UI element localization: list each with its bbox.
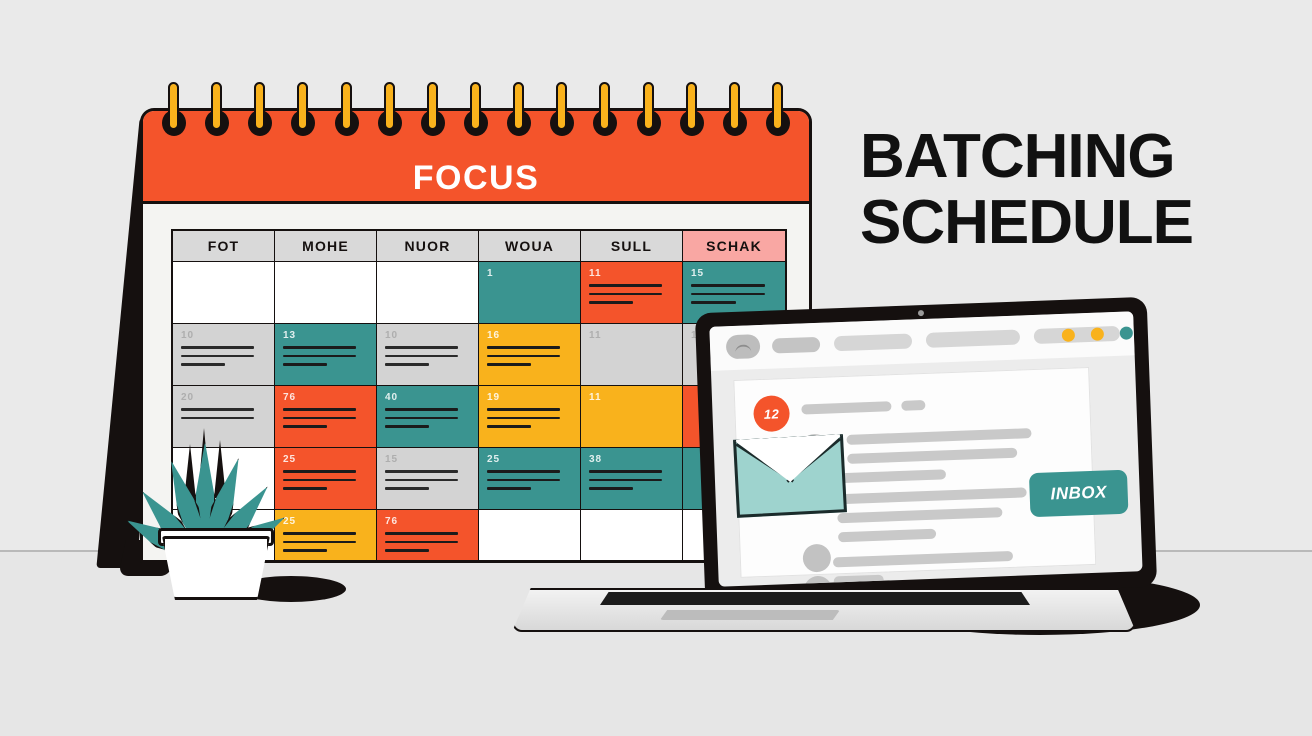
- spiral-ring: [680, 80, 704, 142]
- day-number: 11: [589, 268, 674, 279]
- spiral-wire: [772, 82, 783, 130]
- spiral-wire: [599, 82, 610, 130]
- toolbar-pill[interactable]: [772, 337, 821, 354]
- envelope-flap: [733, 434, 845, 485]
- calendar-day-header: FOT: [173, 231, 275, 262]
- calendar-day-cell[interactable]: 10: [173, 324, 275, 386]
- calendar-day-cell[interactable]: 38: [581, 448, 683, 510]
- day-number: 19: [487, 392, 572, 403]
- potted-succulent: [140, 428, 290, 600]
- spiral-ring: [291, 80, 315, 142]
- calendar-day-cell[interactable]: [377, 262, 479, 324]
- event-line: [181, 417, 254, 420]
- calendar-day-cell[interactable]: 1: [479, 262, 581, 324]
- avatar: [804, 576, 833, 587]
- spiral-ring: [248, 80, 272, 142]
- day-number: 38: [589, 454, 674, 465]
- spiral-wire: [643, 82, 654, 130]
- day-number: 20: [181, 392, 266, 403]
- event-lines: [181, 346, 266, 366]
- day-number: 25: [487, 454, 572, 465]
- event-line: [691, 284, 765, 287]
- event-line: [589, 487, 633, 490]
- calendar-day-cell[interactable]: [581, 510, 683, 563]
- event-line: [487, 417, 560, 420]
- event-line: [385, 470, 458, 473]
- event-line: [181, 408, 254, 411]
- calendar-day-header: WOUA: [479, 231, 581, 262]
- mail-line: [838, 529, 936, 543]
- spiral-ring: [162, 80, 186, 142]
- event-line: [691, 293, 765, 296]
- event-lines: [385, 408, 470, 428]
- calendar-day-cell[interactable]: 25: [275, 448, 377, 510]
- event-line: [589, 293, 662, 296]
- spiral-ring: [593, 80, 617, 142]
- webcam-icon: [918, 310, 924, 316]
- event-line: [283, 346, 356, 349]
- day-number: 15: [385, 454, 470, 465]
- calendar-day-cell[interactable]: 11: [581, 262, 683, 324]
- event-line: [487, 355, 560, 358]
- event-line: [487, 487, 531, 490]
- event-line: [283, 532, 356, 535]
- event-line: [385, 346, 458, 349]
- event-line: [385, 425, 429, 428]
- event-line: [385, 363, 429, 366]
- calendar-spiral-binding: [140, 80, 812, 142]
- spiral-wire: [470, 82, 481, 130]
- day-number: 10: [181, 330, 266, 341]
- browser-toolbar: [709, 311, 1134, 371]
- calendar-day-cell[interactable]: 25: [479, 448, 581, 510]
- calendar-day-header: SULL: [581, 231, 683, 262]
- calendar-day-cell[interactable]: 15: [377, 448, 479, 510]
- laptop-trackpad: [660, 610, 840, 620]
- spiral-wire: [729, 82, 740, 130]
- event-line: [589, 479, 662, 482]
- spiral-wire: [297, 82, 308, 130]
- calendar-day-cell[interactable]: 10: [377, 324, 479, 386]
- spiral-wire: [168, 82, 179, 130]
- event-lines: [487, 346, 572, 366]
- spiral-wire: [556, 82, 567, 130]
- event-line: [385, 355, 458, 358]
- calendar-day-cell[interactable]: 11: [581, 324, 683, 386]
- calendar-day-cell[interactable]: 13: [275, 324, 377, 386]
- event-lines: [283, 346, 368, 366]
- teal-dot[interactable]: [1120, 326, 1133, 339]
- event-lines: [487, 470, 572, 490]
- event-lines: [487, 408, 572, 428]
- toolbar-pill[interactable]: [926, 329, 1020, 347]
- event-lines: [385, 470, 470, 490]
- event-lines: [385, 346, 470, 366]
- day-number: 76: [283, 392, 368, 403]
- event-line: [385, 487, 429, 490]
- spiral-wire: [686, 82, 697, 130]
- spiral-ring: [637, 80, 661, 142]
- event-line: [385, 408, 458, 411]
- event-line: [181, 355, 254, 358]
- event-lines: [283, 470, 368, 490]
- day-number: 15: [691, 268, 777, 279]
- spiral-wire: [341, 82, 352, 130]
- day-number: 16: [487, 330, 572, 341]
- spiral-ring: [766, 80, 790, 142]
- event-line: [385, 479, 458, 482]
- calendar-day-header: MOHE: [275, 231, 377, 262]
- spiral-ring: [464, 80, 488, 142]
- calendar-day-cell[interactable]: 19: [479, 386, 581, 448]
- spiral-ring: [421, 80, 445, 142]
- toolbar-pill[interactable]: [834, 333, 912, 351]
- day-number: 1: [487, 268, 572, 279]
- event-line: [385, 417, 458, 420]
- calendar-day-cell[interactable]: 11: [581, 386, 683, 448]
- calendar-month-label: FOCUS: [143, 159, 809, 198]
- day-number: 25: [283, 454, 368, 465]
- calendar-day-cell[interactable]: 40: [377, 386, 479, 448]
- spiral-ring: [205, 80, 229, 142]
- spiral-wire: [211, 82, 222, 130]
- event-line: [283, 417, 356, 420]
- event-line: [487, 479, 560, 482]
- mail-line: [901, 400, 925, 411]
- mail-line: [847, 448, 1017, 464]
- calendar-day-header: SCHAK: [683, 231, 785, 262]
- event-line: [589, 301, 633, 304]
- event-line: [487, 363, 531, 366]
- day-number: 10: [385, 330, 470, 341]
- laptop-hinge-notch: [600, 592, 1030, 605]
- event-lines: [589, 470, 674, 490]
- event-lines: [589, 284, 674, 304]
- mail-line: [833, 551, 1013, 568]
- calendar-day-cell[interactable]: 25: [275, 510, 377, 563]
- spiral-ring: [335, 80, 359, 142]
- spiral-ring: [507, 80, 531, 142]
- calendar-day-cell[interactable]: [173, 262, 275, 324]
- plant-pot: [162, 536, 270, 600]
- calendar-day-cell[interactable]: 76: [377, 510, 479, 563]
- event-line: [283, 408, 356, 411]
- event-lines: [385, 532, 470, 552]
- event-line: [385, 532, 458, 535]
- mail-line: [837, 507, 1002, 523]
- spiral-wire: [427, 82, 438, 130]
- spiral-wire: [254, 82, 265, 130]
- calendar-day-cell[interactable]: 76: [275, 386, 377, 448]
- calendar-day-cell[interactable]: 16: [479, 324, 581, 386]
- event-line: [283, 363, 327, 366]
- day-number: 76: [385, 516, 470, 527]
- day-number: 25: [283, 516, 368, 527]
- event-line: [181, 346, 254, 349]
- event-lines: [691, 284, 777, 304]
- event-line: [181, 363, 225, 366]
- event-line: [283, 470, 356, 473]
- illustration-canvas: BATCHING SCHEDULE FOCUS FOTMOHENUORWOUAS…: [0, 0, 1312, 736]
- event-line: [487, 425, 531, 428]
- spiral-wire: [384, 82, 395, 130]
- event-line: [487, 346, 560, 349]
- spiral-ring: [723, 80, 747, 142]
- calendar-day-cell[interactable]: [275, 262, 377, 324]
- mail-line: [846, 428, 1031, 445]
- event-line: [487, 408, 560, 411]
- event-line: [487, 470, 560, 473]
- toolbar-pill[interactable]: [1034, 326, 1120, 344]
- event-line: [283, 355, 356, 358]
- mail-line: [801, 401, 891, 414]
- back-arrow-icon[interactable]: [726, 334, 761, 359]
- mail-line: [837, 487, 1027, 504]
- event-line: [385, 541, 458, 544]
- notification-badge[interactable]: 12: [753, 395, 790, 432]
- event-lines: [181, 408, 266, 419]
- spiral-ring: [378, 80, 402, 142]
- day-number: 11: [589, 392, 674, 403]
- event-line: [283, 541, 356, 544]
- spiral-ring: [550, 80, 574, 142]
- event-line: [589, 470, 662, 473]
- event-line: [283, 479, 356, 482]
- spiral-wire: [513, 82, 524, 130]
- day-number: 40: [385, 392, 470, 403]
- avatar: [802, 544, 831, 573]
- envelope-icon: [733, 434, 847, 518]
- day-number: 13: [283, 330, 368, 341]
- event-lines: [283, 532, 368, 552]
- day-number: 11: [589, 330, 674, 341]
- mail-line: [834, 575, 884, 587]
- inbox-badge[interactable]: INBOX: [1029, 470, 1129, 518]
- calendar-day-cell[interactable]: [479, 510, 581, 563]
- event-lines: [283, 408, 368, 428]
- calendar-day-header: NUOR: [377, 231, 479, 262]
- event-line: [385, 549, 429, 552]
- mail-line: [838, 469, 946, 483]
- event-line: [589, 284, 662, 287]
- event-line: [691, 301, 736, 304]
- page-title: BATCHING SCHEDULE: [860, 124, 1280, 256]
